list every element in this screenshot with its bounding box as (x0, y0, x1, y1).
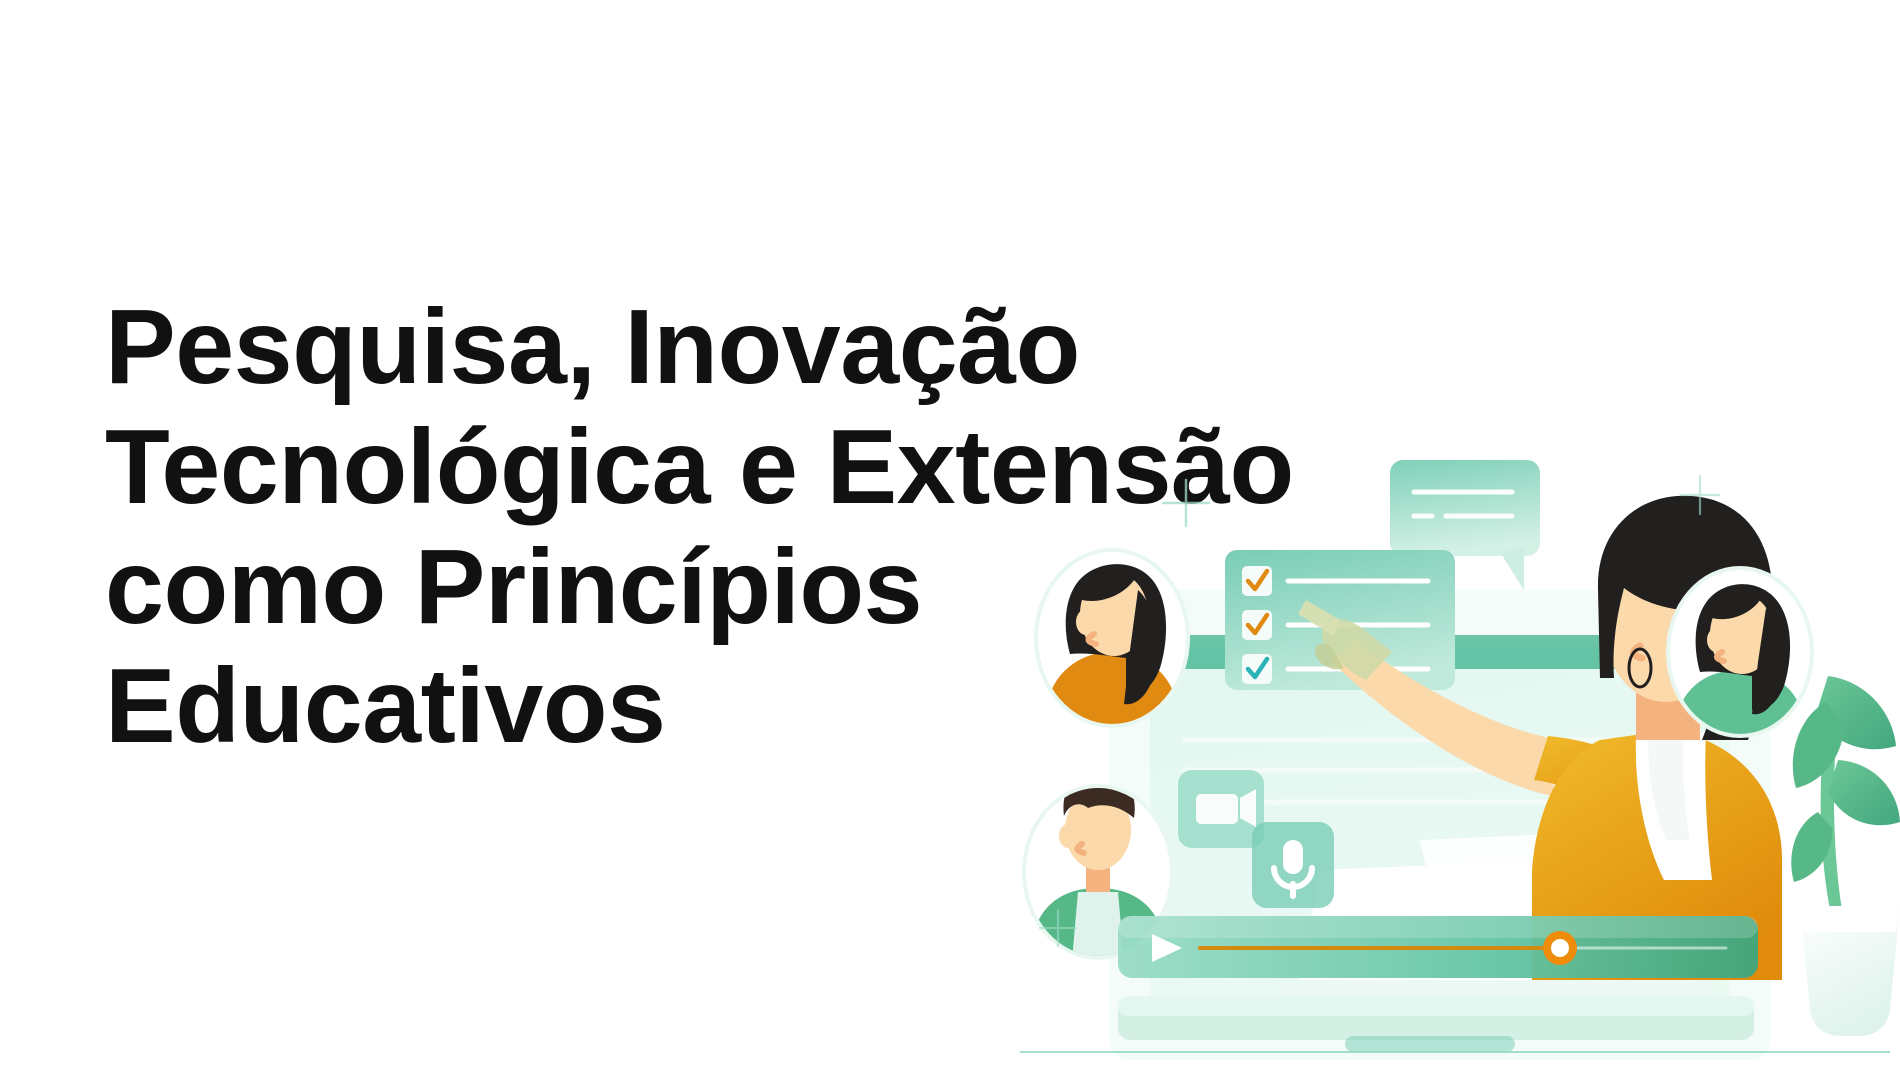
potted-plant (1791, 676, 1900, 1036)
sparkle-icon (1163, 480, 1209, 526)
video-camera-icon (1178, 770, 1264, 848)
video-player[interactable] (1118, 916, 1758, 978)
hero-illustration (1000, 440, 1900, 1080)
avatar (1034, 548, 1190, 728)
microphone-icon (1252, 822, 1334, 908)
slide-root: Pesquisa, Inovação Tecnológica e Extensã… (0, 0, 1900, 1080)
avatar (1666, 566, 1814, 738)
